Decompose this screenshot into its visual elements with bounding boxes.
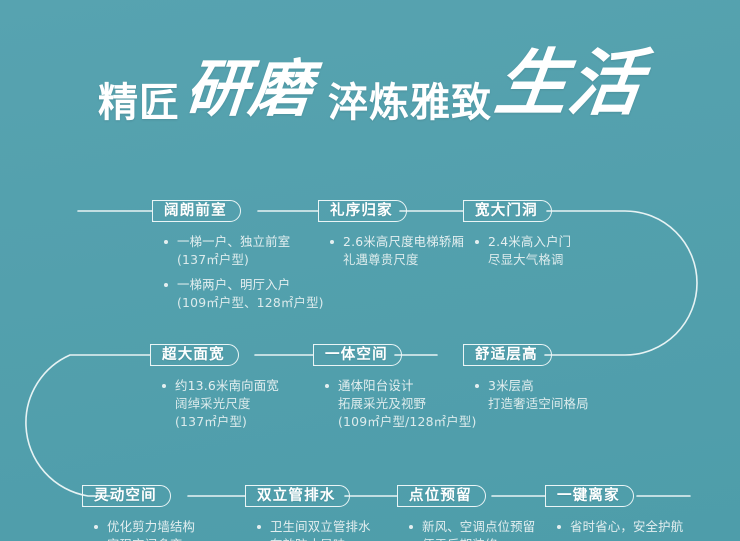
page-title: 精匠 研磨 淬炼雅致 生活 bbox=[0, 34, 740, 144]
headline-row: 精匠 研磨 淬炼雅致 生活 bbox=[98, 53, 642, 125]
list-item: 省时省心，安全护航 bbox=[557, 518, 683, 536]
bullet-dot-icon bbox=[257, 525, 261, 529]
feature-bullet-list: 2.4米高入户门 尽显大气格调 bbox=[475, 233, 571, 269]
bullet-line: (137㎡户型) bbox=[177, 251, 324, 269]
headline-part-4: 生活 bbox=[492, 47, 647, 119]
feature-label[interactable]: 舒适层高 bbox=[463, 344, 552, 366]
bullet-line: 实现空间多变 bbox=[107, 536, 195, 541]
bullet-dot-icon bbox=[409, 525, 413, 529]
bullet-line: 优化剪力墙结构 bbox=[107, 518, 195, 536]
feature-bullet-list: 3米层高 打造奢适空间格局 bbox=[475, 377, 589, 413]
feature-bullet-list: 通体阳台设计 拓展采光及视野 (109㎡户型/128㎡户型) bbox=[325, 377, 477, 431]
feature-label[interactable]: 双立管排水 bbox=[245, 485, 350, 507]
feature-label[interactable]: 一体空间 bbox=[313, 344, 402, 366]
bullet-line: 拓展采光及视野 bbox=[338, 395, 477, 413]
list-item: 约13.6米南向面宽 阔绰采光尺度 (137㎡户型) bbox=[162, 377, 279, 431]
bullet-line: 3米层高 bbox=[488, 377, 589, 395]
feature-label[interactable]: 礼序归家 bbox=[318, 200, 407, 222]
bullet-dot-icon bbox=[325, 384, 329, 388]
headline-part-3: 淬炼雅致 bbox=[328, 83, 492, 123]
feature-label[interactable]: 灵动空间 bbox=[82, 485, 171, 507]
list-item: 通体阳台设计 拓展采光及视野 (109㎡户型/128㎡户型) bbox=[325, 377, 477, 431]
list-item: 2.4米高入户门 尽显大气格调 bbox=[475, 233, 571, 269]
feature-label[interactable]: 宽大门洞 bbox=[463, 200, 552, 222]
bullet-line: 一梯一户、独立前室 bbox=[177, 233, 324, 251]
bullet-line: 2.4米高入户门 bbox=[488, 233, 571, 251]
bullet-dot-icon bbox=[94, 525, 98, 529]
bullet-dot-icon bbox=[330, 240, 334, 244]
feature-bullet-list: 省时省心，安全护航 bbox=[557, 518, 683, 536]
bullet-line: 省时省心，安全护航 bbox=[570, 518, 683, 536]
connector-path-diagram bbox=[0, 0, 740, 541]
bullet-line: 新风、空调点位预留 bbox=[422, 518, 535, 536]
feature-card-shuangliguanpaishui[interactable]: 双立管排水 卫生间双立管排水 有效防止异味 bbox=[245, 485, 371, 541]
feature-label[interactable]: 阔朗前室 bbox=[152, 200, 241, 222]
headline-part-1: 精匠 bbox=[98, 83, 180, 123]
feature-card-lingdongkongjian[interactable]: 灵动空间 优化剪力墙结构 实现空间多变 bbox=[82, 485, 195, 541]
bullet-line: 约13.6米南向面宽 bbox=[175, 377, 279, 395]
bullet-line: 卫生间双立管排水 bbox=[270, 518, 371, 536]
feature-bullet-list: 优化剪力墙结构 实现空间多变 bbox=[94, 518, 195, 541]
feature-bullet-list: 约13.6米南向面宽 阔绰采光尺度 (137㎡户型) bbox=[162, 377, 279, 431]
bullet-dot-icon bbox=[162, 384, 166, 388]
headline-part-2: 研磨 bbox=[183, 58, 314, 120]
list-item: 2.6米高尺度电梯轿厢 礼遇尊贵尺度 bbox=[330, 233, 464, 269]
feature-bullet-list: 卫生间双立管排水 有效防止异味 bbox=[257, 518, 371, 541]
feature-label[interactable]: 一键离家 bbox=[545, 485, 634, 507]
feature-card-yijianlijia[interactable]: 一键离家 省时省心，安全护航 bbox=[545, 485, 683, 536]
bullet-line: (109㎡户型/128㎡户型) bbox=[338, 413, 477, 431]
bullet-dot-icon bbox=[557, 525, 561, 529]
bullet-line: (109㎡户型、128㎡户型) bbox=[177, 294, 324, 312]
feature-card-kuolangqianshi[interactable]: 阔朗前室 一梯一户、独立前室 (137㎡户型) 一梯两户、明厅入户 (109㎡户… bbox=[152, 200, 324, 312]
list-item: 一梯两户、明厅入户 (109㎡户型、128㎡户型) bbox=[164, 276, 324, 312]
bullet-dot-icon bbox=[475, 384, 479, 388]
feature-card-kuandamendong[interactable]: 宽大门洞 2.4米高入户门 尽显大气格调 bbox=[463, 200, 571, 269]
bullet-dot-icon bbox=[475, 240, 479, 244]
feature-label[interactable]: 超大面宽 bbox=[150, 344, 239, 366]
list-item: 优化剪力墙结构 实现空间多变 bbox=[94, 518, 195, 541]
connector-left-uturn bbox=[26, 355, 150, 496]
feature-label[interactable]: 点位预留 bbox=[397, 485, 486, 507]
bullet-dot-icon bbox=[164, 240, 168, 244]
bullet-line: 有效防止异味 bbox=[270, 536, 371, 541]
bullet-line: 一梯两户、明厅入户 bbox=[177, 276, 324, 294]
feature-card-shushicenggao[interactable]: 舒适层高 3米层高 打造奢适空间格局 bbox=[463, 344, 589, 413]
bullet-line: 礼遇尊贵尺度 bbox=[343, 251, 464, 269]
feature-card-dianweiyuliu[interactable]: 点位预留 新风、空调点位预留 便于后期装修 bbox=[397, 485, 535, 541]
bullet-line: (137㎡户型) bbox=[175, 413, 279, 431]
bullet-dot-icon bbox=[164, 283, 168, 287]
feature-bullet-list: 2.6米高尺度电梯轿厢 礼遇尊贵尺度 bbox=[330, 233, 464, 269]
bullet-line: 打造奢适空间格局 bbox=[488, 395, 589, 413]
list-item: 卫生间双立管排水 有效防止异味 bbox=[257, 518, 371, 541]
feature-card-lixuguijia[interactable]: 礼序归家 2.6米高尺度电梯轿厢 礼遇尊贵尺度 bbox=[318, 200, 464, 269]
feature-bullet-list: 一梯一户、独立前室 (137㎡户型) 一梯两户、明厅入户 (109㎡户型、128… bbox=[164, 233, 324, 312]
bullet-line: 通体阳台设计 bbox=[338, 377, 477, 395]
feature-bullet-list: 新风、空调点位预留 便于后期装修 bbox=[409, 518, 535, 541]
bullet-line: 阔绰采光尺度 bbox=[175, 395, 279, 413]
list-item: 新风、空调点位预留 便于后期装修 bbox=[409, 518, 535, 541]
list-item: 3米层高 打造奢适空间格局 bbox=[475, 377, 589, 413]
feature-card-chaodamiankuan[interactable]: 超大面宽 约13.6米南向面宽 阔绰采光尺度 (137㎡户型) bbox=[150, 344, 279, 431]
poster-canvas: 精匠 研磨 淬炼雅致 生活 阔朗前室 一梯一户、独立前室 (137㎡户型 bbox=[0, 0, 740, 541]
list-item: 一梯一户、独立前室 (137㎡户型) bbox=[164, 233, 324, 269]
bullet-line: 便于后期装修 bbox=[422, 536, 535, 541]
bullet-line: 尽显大气格调 bbox=[488, 251, 571, 269]
feature-card-yitikongjian[interactable]: 一体空间 通体阳台设计 拓展采光及视野 (109㎡户型/128㎡户型) bbox=[313, 344, 477, 431]
bullet-line: 2.6米高尺度电梯轿厢 bbox=[343, 233, 464, 251]
